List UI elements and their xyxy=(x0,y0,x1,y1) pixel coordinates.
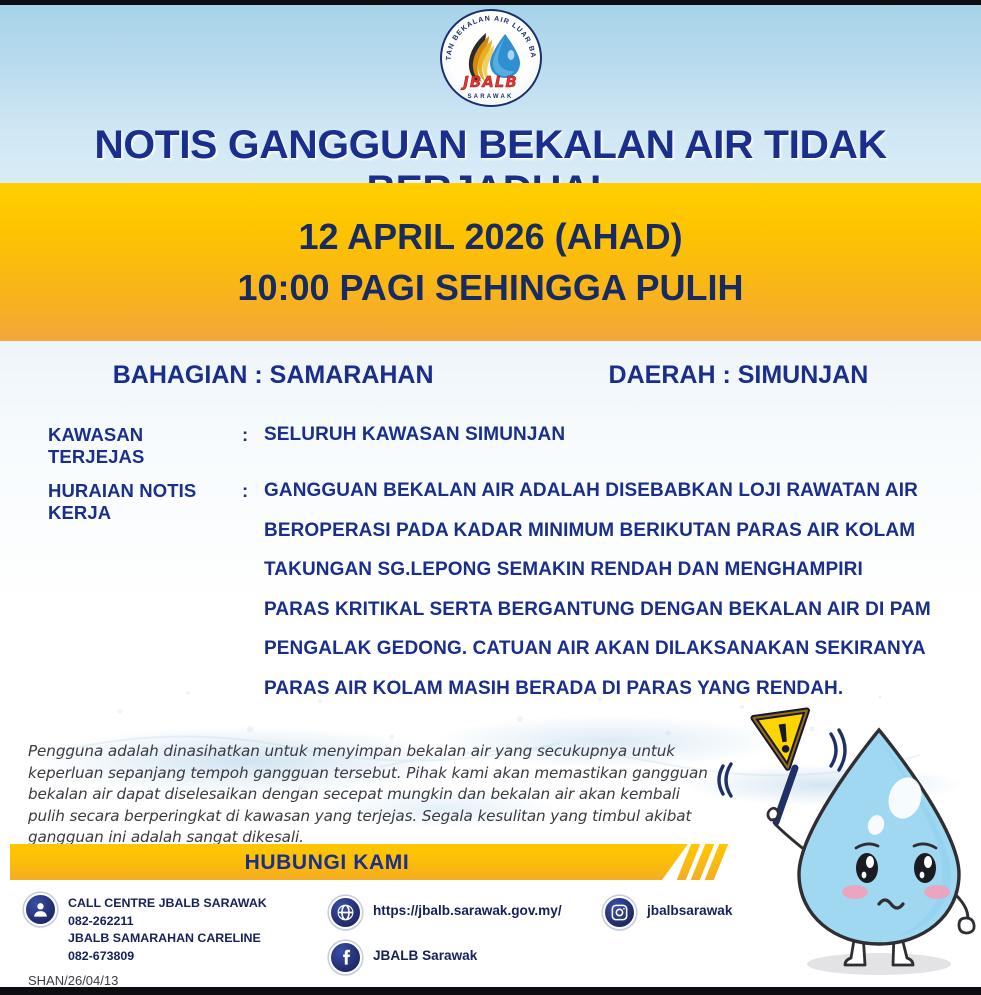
work-description-colon: : xyxy=(242,480,264,502)
affected-area-row: KAWASAN TERJEJAS : SELURUH KAWASAN SIMUN… xyxy=(0,424,565,468)
notice-poster: JABATAN BEKALAN AIR LUAR BANDAR xyxy=(0,0,981,995)
date-band: 12 APRIL 2026 (AHAD) 10:00 PAGI SEHINGGA… xyxy=(0,183,981,341)
date-line-1: 12 APRIL 2026 (AHAD) xyxy=(298,211,682,262)
call-centre-phone: 082-262211 xyxy=(68,913,267,931)
work-description-label: HURAIAN NOTIS KERJA xyxy=(0,480,242,524)
contact-bar: HUBUNGI KAMI xyxy=(10,844,688,880)
work-description-row: HURAIAN NOTIS KERJA : GANGGUAN BEKALAN A… xyxy=(0,480,931,700)
logo-circle: JABATAN BEKALAN AIR LUAR BANDAR xyxy=(440,9,542,107)
division-label: BAHAGIAN : SAMARAHAN xyxy=(113,361,434,390)
affected-area-colon: : xyxy=(242,424,264,446)
advisory-paragraph: Pengguna adalah dinasihatkan untuk menyi… xyxy=(28,741,718,849)
contact-instagram[interactable]: jbalbsarawak xyxy=(603,896,732,929)
affected-area-line: SELURUH KAWASAN SIMUNJAN xyxy=(264,424,565,446)
header-banner: JABATAN BEKALAN AIR LUAR BANDAR xyxy=(0,5,981,183)
call-centre-text: CALL CENTRE JBALB SARAWAK 082-262211 JBA… xyxy=(68,893,267,965)
district-label: DAERAH : SIMUNJAN xyxy=(609,361,869,390)
region-row: BAHAGIAN : SAMARAHAN DAERAH : SIMUNJAN xyxy=(0,361,981,390)
affected-area-label: KAWASAN TERJEJAS xyxy=(0,424,242,468)
facebook-handle[interactable]: JBALB Sarawak xyxy=(373,941,477,965)
facebook-icon xyxy=(329,941,362,974)
reference-code: SHAN/26/04/13 xyxy=(28,973,118,988)
work-description-line: PARAS AIR KOLAM MASIH BERADA DI PARAS YA… xyxy=(264,678,931,700)
work-description-line: PARAS KRITIKAL SERTA BERGANTUNG DENGAN B… xyxy=(264,599,931,621)
affected-area-value: SELURUH KAWASAN SIMUNJAN xyxy=(264,424,565,446)
water-droplet-mascot xyxy=(719,708,981,990)
work-description-line: PENGALAK GEDONG. CATUAN AIR AKAN DILAKSA… xyxy=(264,638,931,660)
work-description-line: TAKUNGAN SG.LEPONG SEMAKIN RENDAH DAN ME… xyxy=(264,559,931,581)
website-url[interactable]: https://jbalb.sarawak.gov.my/ xyxy=(373,896,562,920)
body-area: BAHAGIAN : SAMARAHAN DAERAH : SIMUNJAN K… xyxy=(0,341,981,995)
careline-phone: 082-673809 xyxy=(68,948,267,966)
contact-bar-label: HUBUNGI KAMI xyxy=(10,851,644,875)
call-centre-name: CALL CENTRE JBALB SARAWAK xyxy=(68,895,267,913)
person-icon xyxy=(24,893,57,926)
globe-icon xyxy=(329,896,362,929)
date-line-2: 10:00 PAGI SEHINGGA PULIH xyxy=(237,262,743,313)
careline-name: JBALB SAMARAHAN CARELINE xyxy=(68,930,267,948)
logo-state-label: SARAWAK xyxy=(442,94,540,100)
work-description-line: GANGGUAN BEKALAN AIR ADALAH DISEBABKAN L… xyxy=(264,480,931,502)
work-description-value: GANGGUAN BEKALAN AIR ADALAH DISEBABKAN L… xyxy=(264,480,931,700)
contact-call-centre[interactable]: CALL CENTRE JBALB SARAWAK 082-262211 JBA… xyxy=(24,893,267,965)
contact-website[interactable]: https://jbalb.sarawak.gov.my/ xyxy=(329,896,562,929)
logo-acronym: JBALB xyxy=(442,73,540,91)
warning-triangle-sign xyxy=(754,711,815,772)
instagram-handle[interactable]: jbalbsarawak xyxy=(647,896,732,920)
instagram-icon xyxy=(603,896,636,929)
work-description-line: BEROPERASI PADA KADAR MINIMUM BERIKUTAN … xyxy=(264,520,931,542)
jbalb-logo: JABATAN BEKALAN AIR LUAR BANDAR xyxy=(440,9,542,107)
contact-facebook[interactable]: JBALB Sarawak xyxy=(329,941,477,974)
